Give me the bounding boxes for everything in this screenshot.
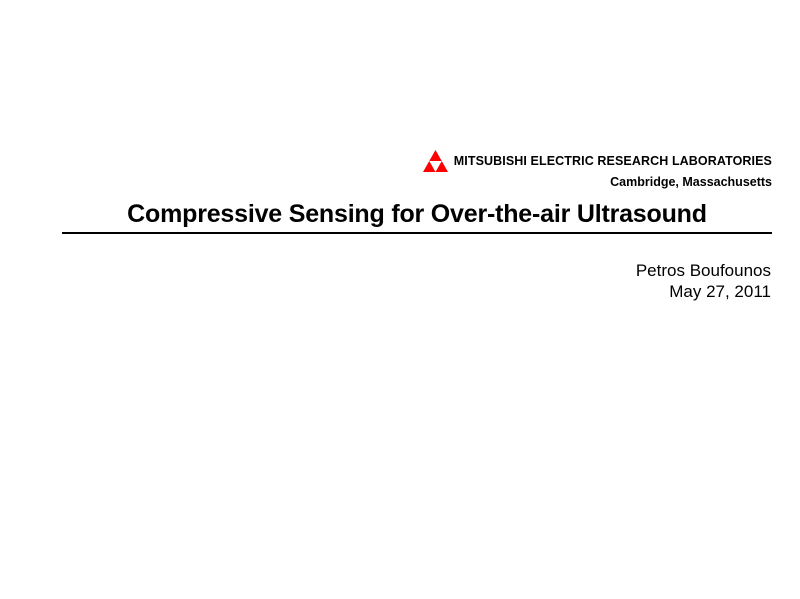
title-block: Compressive Sensing for Over-the-air Ult… bbox=[62, 199, 772, 234]
byline-block: Petros Boufounos May 27, 2011 bbox=[0, 260, 771, 302]
merl-location: Cambridge, Massachusetts bbox=[0, 172, 772, 191]
title-underline-rule bbox=[62, 232, 772, 234]
slide-body-empty-area bbox=[0, 320, 800, 599]
merl-header: MITSUBISHI ELECTRIC RESEARCH LABORATORIE… bbox=[0, 150, 772, 191]
page-title: Compressive Sensing for Over-the-air Ult… bbox=[62, 199, 772, 230]
mitsubishi-three-diamond-icon bbox=[423, 150, 448, 172]
title-slide: MITSUBISHI ELECTRIC RESEARCH LABORATORIE… bbox=[0, 0, 800, 599]
author-name: Petros Boufounos bbox=[0, 260, 771, 281]
merl-logo-and-company: MITSUBISHI ELECTRIC RESEARCH LABORATORIE… bbox=[0, 150, 772, 172]
presentation-date: May 27, 2011 bbox=[0, 281, 771, 302]
merl-company-name: MITSUBISHI ELECTRIC RESEARCH LABORATORIE… bbox=[454, 154, 772, 169]
